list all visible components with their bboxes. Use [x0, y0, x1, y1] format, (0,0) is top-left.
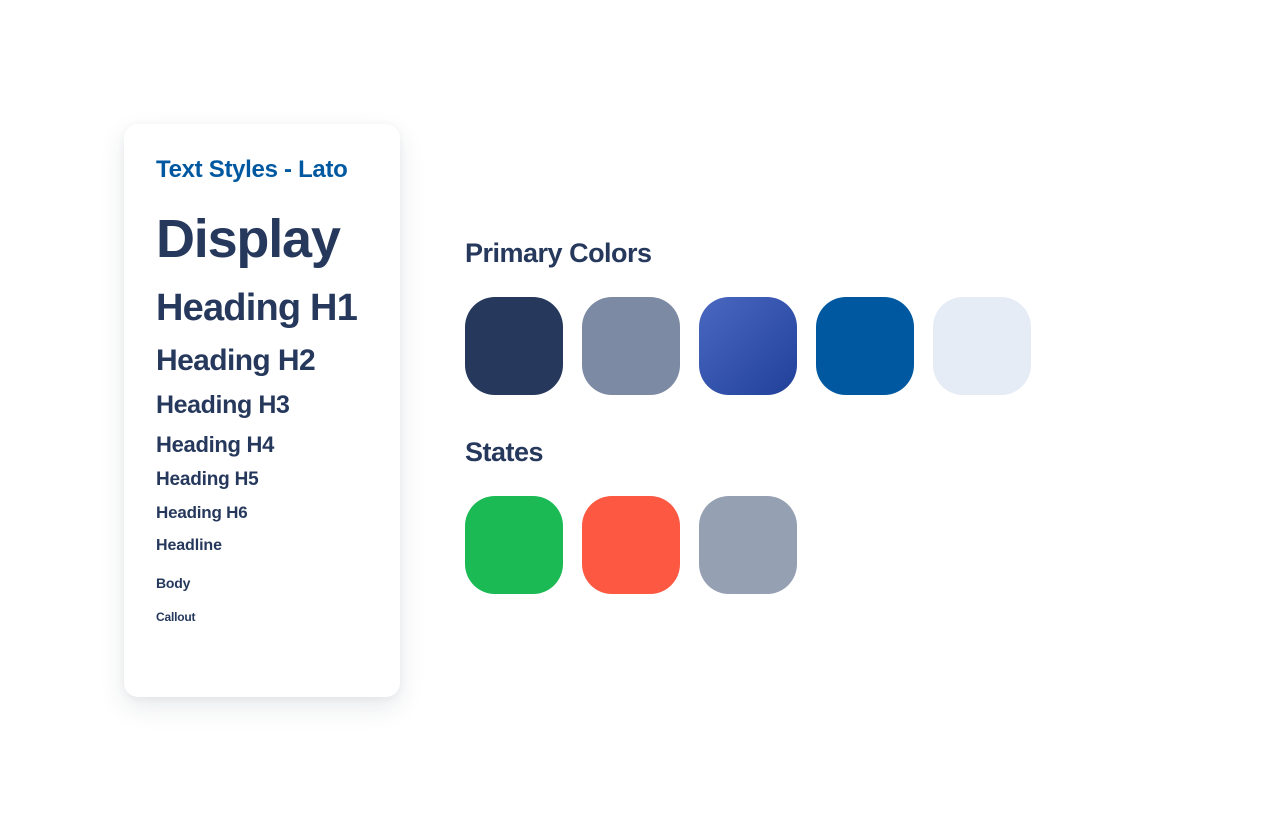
color-swatch-primary-navy[interactable]: [465, 297, 563, 395]
type-specimen-h6: Heading H6: [156, 504, 400, 522]
type-specimen-body: Body: [156, 576, 400, 591]
states-title: States: [465, 439, 1165, 466]
type-specimen-display: Display: [156, 212, 400, 267]
type-specimen-h5: Heading H5: [156, 470, 400, 490]
text-styles-title: Text Styles - Lato: [156, 158, 400, 182]
color-swatch-state-success[interactable]: [465, 496, 563, 594]
color-swatch-primary-ice-blue[interactable]: [933, 297, 1031, 395]
primary-colors-swatch-row: [465, 297, 1165, 395]
states-section: States: [465, 439, 1165, 594]
type-specimen-h3: Heading H3: [156, 392, 400, 418]
type-specimen-callout: Callout: [156, 611, 400, 624]
color-swatch-primary-blue[interactable]: [816, 297, 914, 395]
primary-colors-section: Primary Colors: [465, 240, 1165, 395]
color-swatch-primary-indigo[interactable]: [699, 297, 797, 395]
text-styles-card: Text Styles - Lato Display Heading H1 He…: [124, 124, 400, 697]
type-specimen-headline: Headline: [156, 538, 400, 555]
primary-colors-title: Primary Colors: [465, 240, 1165, 267]
color-swatch-primary-slate[interactable]: [582, 297, 680, 395]
color-swatch-state-neutral[interactable]: [699, 496, 797, 594]
color-palette: Primary Colors States: [465, 240, 1165, 594]
type-specimen-h1: Heading H1: [156, 289, 400, 329]
color-swatch-state-error[interactable]: [582, 496, 680, 594]
type-specimen-h4: Heading H4: [156, 433, 400, 456]
type-specimen-h2: Heading H2: [156, 345, 400, 377]
states-swatch-row: [465, 496, 1165, 594]
